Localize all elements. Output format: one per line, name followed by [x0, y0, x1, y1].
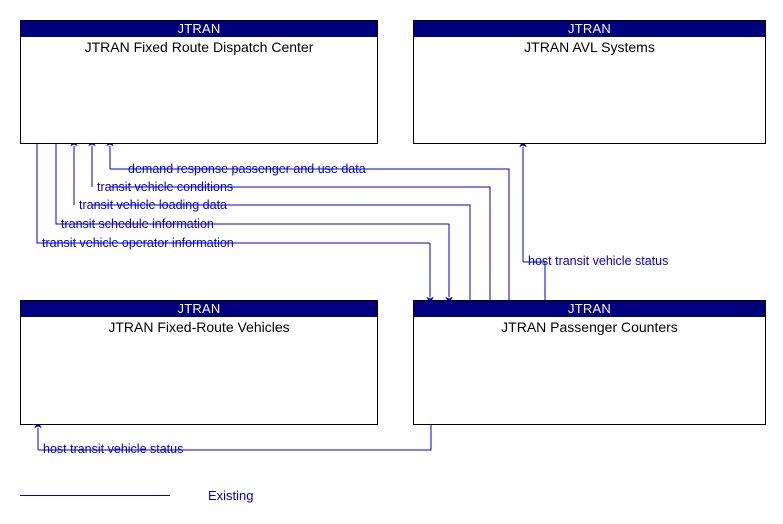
- node-jtran-passenger-counters[interactable]: JTRAN JTRAN Passenger Counters: [413, 300, 766, 425]
- flow-label-host-transit-vehicle-status-avl: host transit vehicle status: [528, 255, 668, 267]
- node-stakeholder-label: JTRAN: [21, 21, 377, 37]
- legend-label-existing: Existing: [208, 488, 254, 503]
- legend: Existing: [20, 486, 340, 516]
- node-jtran-avl-systems[interactable]: JTRAN JTRAN AVL Systems: [413, 20, 766, 144]
- node-stakeholder-label: JTRAN: [21, 301, 377, 317]
- flow-label-demand-response-passenger-and-use-data: demand response passenger and use data: [128, 163, 366, 175]
- flow-label-transit-vehicle-operator-information: transit vehicle operator information: [42, 237, 234, 249]
- node-jtran-fixed-route-dispatch-center[interactable]: JTRAN JTRAN Fixed Route Dispatch Center: [20, 20, 378, 144]
- flow-label-transit-vehicle-conditions: transit vehicle conditions: [97, 181, 233, 193]
- node-name-label: JTRAN Fixed Route Dispatch Center: [21, 39, 377, 55]
- flow-label-host-transit-vehicle-status-vehicles: host transit vehicle status: [43, 443, 183, 455]
- node-jtran-fixed-route-vehicles[interactable]: JTRAN JTRAN Fixed-Route Vehicles: [20, 300, 378, 425]
- legend-line-existing-icon: [20, 495, 170, 496]
- flow-label-transit-schedule-information: transit schedule information: [61, 218, 214, 230]
- node-name-label: JTRAN Fixed-Route Vehicles: [21, 319, 377, 335]
- flow-label-transit-vehicle-loading-data: transit vehicle loading data: [79, 199, 227, 211]
- diagram-canvas: demand response passenger and use data t…: [0, 0, 783, 524]
- node-name-label: JTRAN AVL Systems: [414, 39, 765, 55]
- node-stakeholder-label: JTRAN: [414, 301, 765, 317]
- node-name-label: JTRAN Passenger Counters: [414, 319, 765, 335]
- node-stakeholder-label: JTRAN: [414, 21, 765, 37]
